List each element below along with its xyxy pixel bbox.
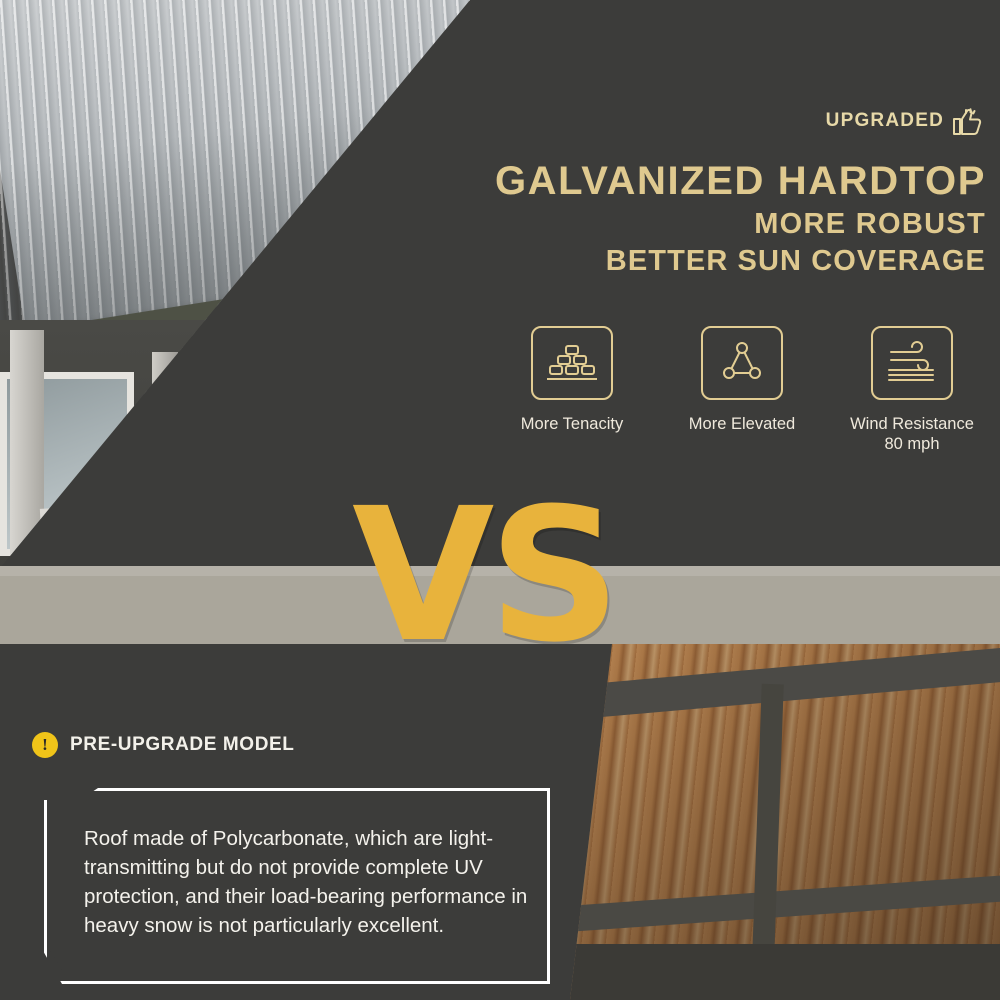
feature-label: More Tenacity <box>492 414 652 434</box>
headline-secondary: MORE ROBUST <box>495 208 986 241</box>
feature-label: More Elevated <box>662 414 822 434</box>
versus-label: VS <box>352 484 615 668</box>
frame-edge <box>570 944 1000 1000</box>
headline-block: GALVANIZED HARDTOP MORE ROBUST BETTER SU… <box>495 160 986 278</box>
polycarbonate-roof-photo <box>570 644 1000 1000</box>
feature-wind-resistance: Wind Resistance 80 mph <box>832 326 992 454</box>
headline-tertiary: BETTER SUN COVERAGE <box>495 245 986 278</box>
pre-upgrade-title: PRE-UPGRADE MODEL <box>70 734 295 756</box>
headline-primary: GALVANIZED HARDTOP <box>495 160 986 202</box>
pre-upgrade-section: ! PRE-UPGRADE MODEL Roof made of Polycar… <box>0 644 1000 1000</box>
feature-more-elevated: More Elevated <box>662 326 822 454</box>
exclamation-circle-icon: ! <box>32 732 58 758</box>
feature-more-tenacity: More Tenacity <box>492 326 652 454</box>
stacked-blocks-icon <box>531 326 613 400</box>
feature-label: Wind Resistance 80 mph <box>832 414 992 454</box>
support-post-left <box>10 330 44 560</box>
upgraded-badge: UPGRADED <box>826 106 984 136</box>
feature-list: More Tenacity More Elevated <box>492 326 992 454</box>
railing <box>40 491 380 525</box>
pre-upgrade-description: Roof made of Polycarbonate, which are li… <box>84 824 534 940</box>
triangle-nodes-icon <box>701 326 783 400</box>
support-post-right <box>152 352 178 562</box>
upgraded-label: UPGRADED <box>826 110 944 132</box>
pre-upgrade-heading: ! PRE-UPGRADE MODEL <box>32 732 295 758</box>
corner-brace <box>176 368 272 508</box>
wind-lines-icon <box>871 326 953 400</box>
product-comparison-graphic: UPGRADED GALVANIZED HARDTOP MORE ROBUST … <box>0 0 1000 1000</box>
thumbs-up-icon <box>950 106 984 136</box>
